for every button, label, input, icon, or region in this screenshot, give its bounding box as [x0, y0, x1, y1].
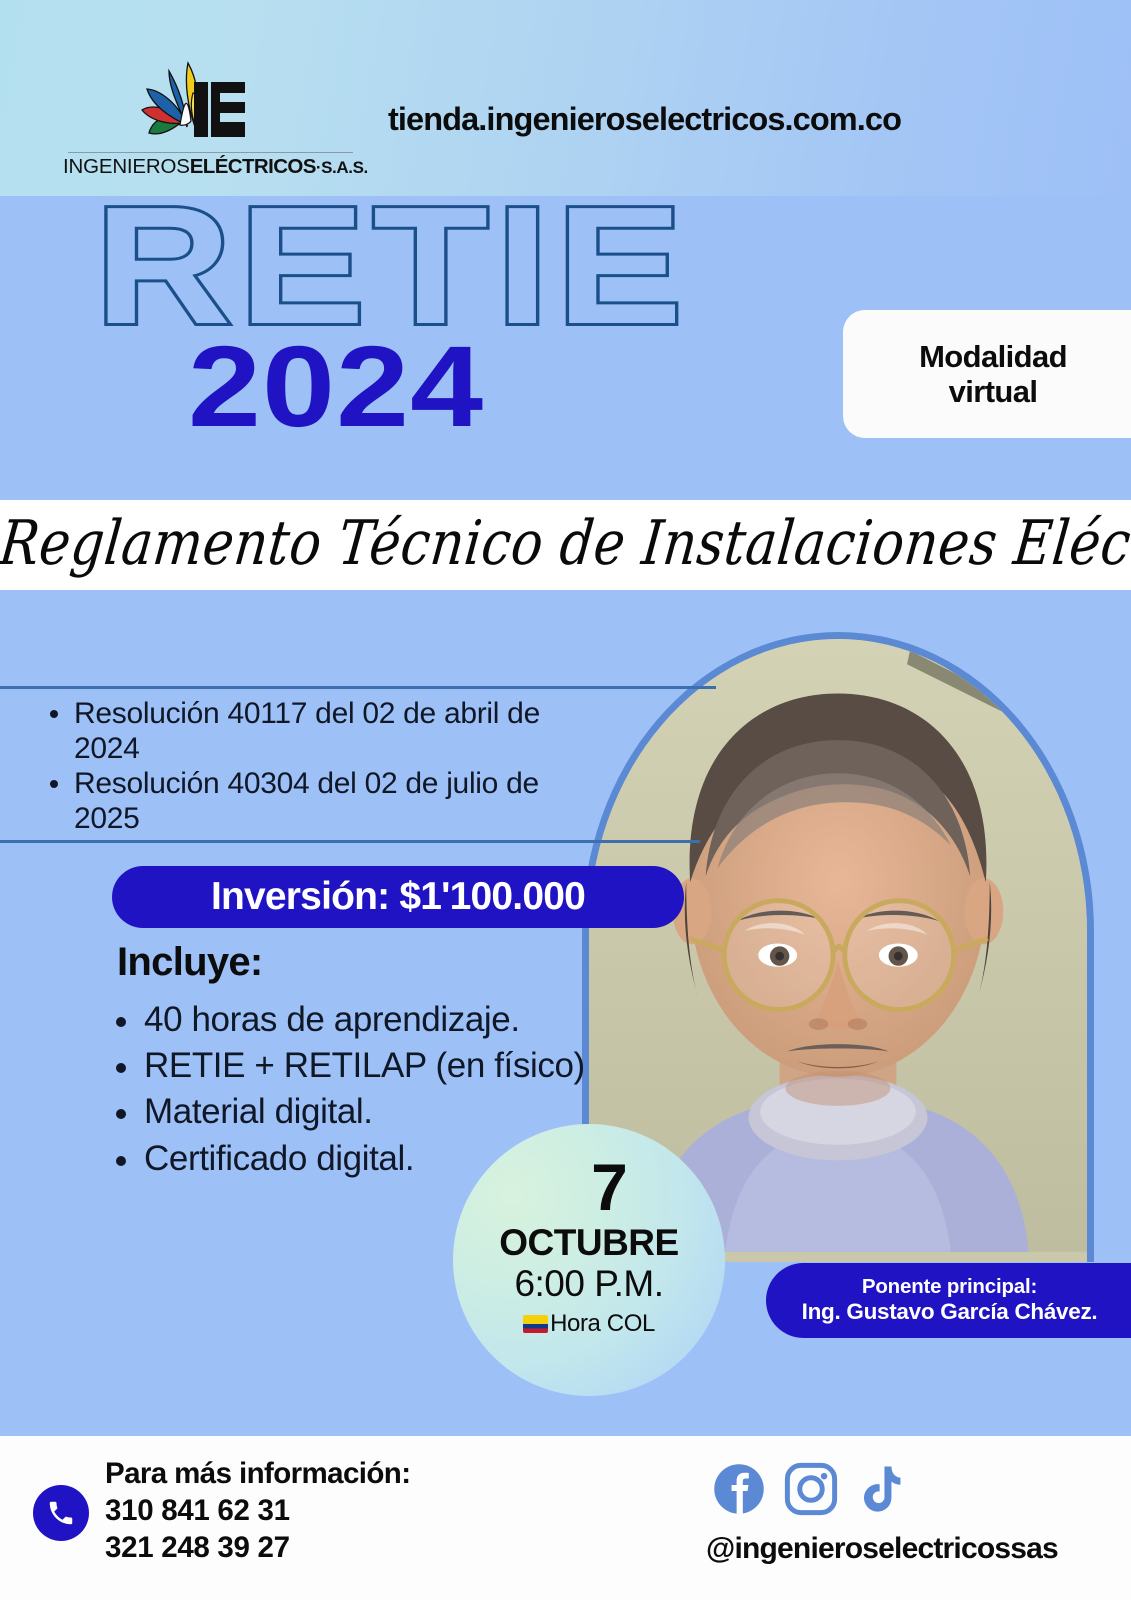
instagram-icon[interactable]: [784, 1462, 838, 1516]
company-logo: INGENIEROSELÉCTRICOS·S.A.S.: [63, 55, 363, 180]
social-handle[interactable]: @ingenieroselectricossas: [706, 1532, 1058, 1566]
logo-divider: [68, 152, 353, 153]
tiktok-icon[interactable]: [856, 1462, 910, 1516]
list-item: 40 horas de aprendizaje.: [100, 997, 620, 1043]
contact-phone-2[interactable]: 321 248 39 27: [105, 1529, 535, 1566]
phone-icon[interactable]: [33, 1485, 89, 1541]
divider-top: [0, 686, 716, 689]
poster-canvas: INGENIEROSELÉCTRICOS·S.A.S. tienda.ingen…: [0, 0, 1131, 1600]
includes-title: Incluye:: [117, 940, 263, 985]
facebook-icon[interactable]: [712, 1462, 766, 1516]
price-label: Inversión: $1'100.000: [211, 875, 585, 919]
page-title-year: 2024: [188, 330, 484, 445]
event-month: OCTUBRE: [499, 1223, 678, 1264]
speaker-role: Ponente principal:: [862, 1275, 1037, 1299]
modality-line-1: Modalidad: [919, 340, 1067, 373]
event-timezone-label: Hora COL: [550, 1310, 655, 1338]
event-date-content: 7 OCTUBRE 6:00 P.M. Hora COL: [453, 1124, 725, 1396]
ie-leaf-logo-icon: [125, 55, 250, 155]
speaker-name: Ing. Gustavo García Chávez.: [802, 1299, 1098, 1326]
event-time: 6:00 P.M.: [514, 1263, 663, 1306]
event-day: 7: [591, 1156, 627, 1219]
contact-title: Para más información:: [105, 1455, 535, 1492]
contact-info: Para más información: 310 841 62 31 321 …: [105, 1455, 535, 1566]
website-url[interactable]: tienda.ingenieroselectricos.com.co: [388, 101, 901, 138]
divider-bottom: [0, 840, 700, 843]
contact-phone-1[interactable]: 310 841 62 31: [105, 1492, 535, 1529]
list-item: Resolución 40117 del 02 de abril de 2024: [36, 696, 606, 766]
list-item: RETIE + RETILAP (en físico): [100, 1043, 620, 1089]
colombia-flag-icon: [523, 1315, 548, 1333]
social-links: [712, 1462, 910, 1516]
list-item: Resolución 40304 del 02 de julio de 2025: [36, 766, 606, 836]
speaker-badge: Ponente principal: Ing. Gustavo García C…: [766, 1263, 1131, 1338]
modality-badge: Modalidad virtual: [843, 310, 1131, 438]
modality-line-2: virtual: [949, 375, 1038, 408]
subtitle-text: Reglamento Técnico de Instalaciones Eléc…: [0, 490, 1131, 599]
event-timezone-row: Hora COL: [523, 1310, 655, 1338]
resolutions-list: Resolución 40117 del 02 de abril de 2024…: [36, 696, 606, 836]
price-badge: Inversión: $1'100.000: [112, 866, 684, 928]
